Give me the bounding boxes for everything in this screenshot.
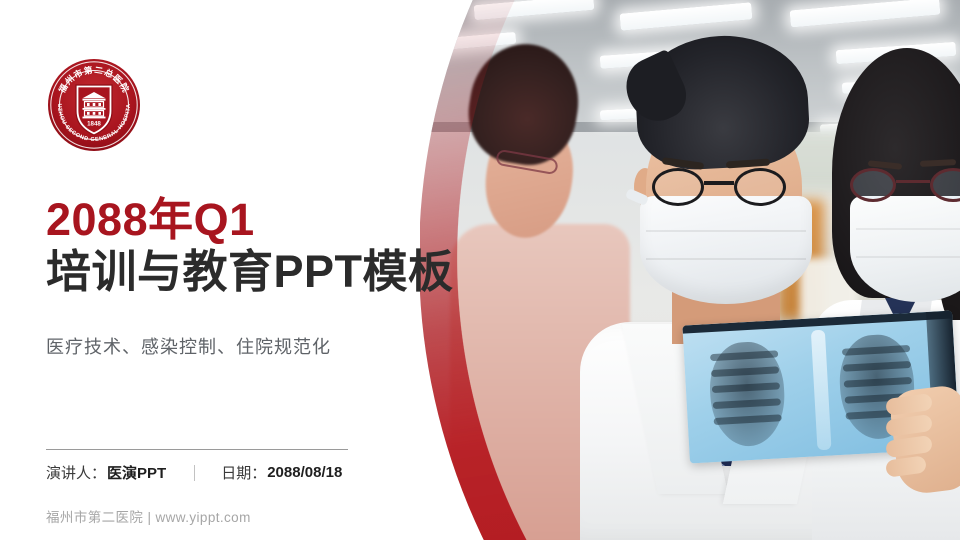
male-doctor-face-mask (640, 196, 812, 304)
meta-separator (194, 465, 195, 481)
title-line-2: 培训与教育PPT模板 (46, 247, 516, 297)
presentation-slide: 福州市第二总医院 FUZHOU SECOND GENERAL HOSPITAL (0, 0, 960, 540)
title-line-1: 2088年Q1 (46, 196, 516, 245)
presenter-value: 医演PPT (107, 462, 166, 483)
female-doctor-fingers (886, 394, 932, 490)
hospital-crest-logo: 福州市第二总医院 FUZHOU SECOND GENERAL HOSPITAL (46, 57, 142, 153)
logo-founded-year: 1848 (87, 121, 101, 128)
male-doctor-eyeglasses (648, 168, 810, 206)
date-label: 日期： (221, 462, 266, 483)
page-title: 2088年Q1 培训与教育PPT模板 (46, 196, 516, 297)
footer-text: 福州市第二医院 | www.yippt.com (46, 506, 251, 526)
presenter-meta-row: 演讲人： 医演PPT 日期： 2088/08/18 (46, 462, 342, 483)
presenter-label: 演讲人： (46, 462, 106, 483)
female-doctor-eyeglasses (846, 168, 960, 202)
subtitle: 医疗技术、感染控制、住院规范化 (46, 333, 331, 359)
meta-divider (46, 449, 348, 450)
slide-content: 福州市第二总医院 FUZHOU SECOND GENERAL HOSPITAL (0, 0, 430, 540)
date-value: 2088/08/18 (267, 464, 342, 481)
